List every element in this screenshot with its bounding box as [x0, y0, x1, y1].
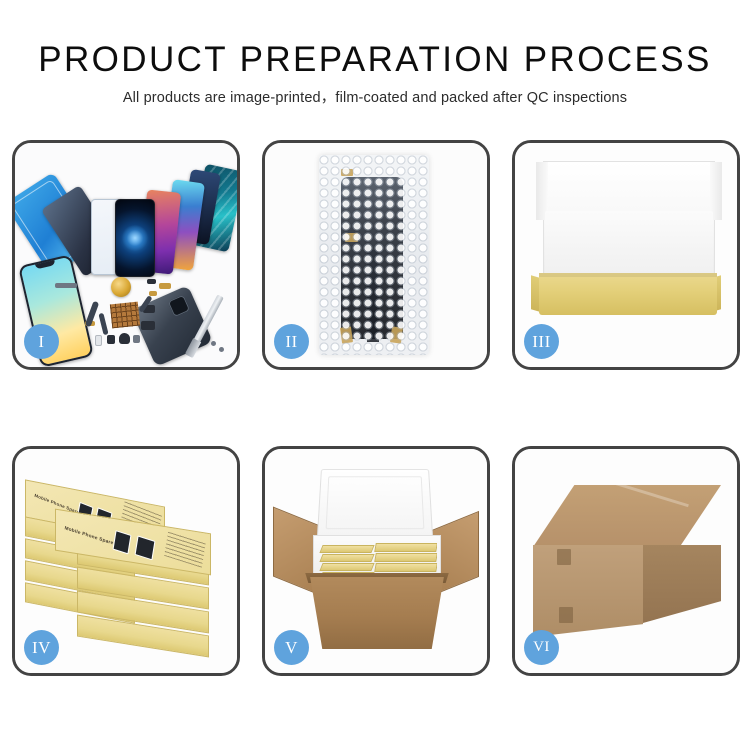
- spare-part-chip: [149, 291, 157, 296]
- process-step-panel-6: VI: [512, 446, 740, 676]
- step-1-image: I: [15, 143, 237, 367]
- packed-box: [374, 543, 437, 552]
- packed-box: [319, 554, 374, 562]
- step-badge-4: IV: [24, 630, 59, 665]
- step-5-image: V: [265, 449, 487, 673]
- foam-lid-icon: [317, 469, 433, 538]
- process-step-panel-3: III: [512, 140, 740, 370]
- flex-cable-icon: [98, 313, 108, 336]
- spare-part-chip: [159, 283, 171, 289]
- tape-icon: [341, 169, 353, 176]
- process-step-panel-2: II: [262, 140, 490, 370]
- process-step-panel-5: V: [262, 446, 490, 676]
- packed-box: [319, 563, 374, 571]
- step-badge-1: I: [24, 324, 59, 359]
- tape-icon: [345, 233, 358, 242]
- step-badge-5: V: [274, 630, 309, 665]
- screen-assembly-icon: [341, 177, 403, 339]
- step-3-image: III: [515, 143, 737, 367]
- step-2-image: II: [265, 143, 487, 367]
- product-preparation-process-page: PRODUCT PREPARATION PROCESS All products…: [0, 0, 750, 750]
- burst-phone-icon: [115, 199, 155, 277]
- carton-tape-icon: [559, 607, 573, 623]
- spare-part-chip: [107, 335, 115, 344]
- logic-board-icon: [110, 302, 140, 329]
- packed-box: [319, 545, 374, 553]
- vibration-motor-icon: [111, 277, 131, 297]
- spare-part-chip: [133, 335, 140, 343]
- process-step-panel-4: Mobile Phone Spare Parts Mobile Phone Sp…: [12, 446, 240, 676]
- spare-part-chip: [147, 279, 156, 284]
- page-subtitle: All products are image-printed，film-coat…: [0, 89, 750, 107]
- box-spec-lines: [164, 531, 206, 568]
- kraft-box-icon: [539, 273, 717, 315]
- carton-tape-icon: [557, 549, 571, 565]
- spare-part-chip: [119, 333, 130, 344]
- spare-part-chip: [141, 321, 155, 330]
- box-window-icon: [135, 535, 156, 560]
- carton-side-icon: [643, 545, 721, 623]
- step-6-image: VI: [515, 449, 737, 673]
- box-window-icon: [113, 530, 132, 554]
- page-title: PRODUCT PREPARATION PROCESS: [0, 40, 750, 80]
- spare-part-chip: [95, 335, 102, 346]
- tape-icon: [340, 326, 353, 343]
- page-header: PRODUCT PREPARATION PROCESS All products…: [0, 0, 750, 107]
- bubble-wrap-bag-icon: [319, 155, 429, 355]
- spare-part-chip: [55, 283, 77, 288]
- carton-top-icon: [533, 485, 721, 547]
- carton-body-icon: [301, 577, 453, 649]
- foam-sheet-icon: [545, 211, 713, 275]
- packed-box: [374, 563, 437, 572]
- process-steps-grid: I II: [12, 140, 740, 676]
- screw-icon: [211, 341, 216, 346]
- step-badge-3: III: [524, 324, 559, 359]
- screw-icon: [219, 347, 224, 352]
- tape-icon: [390, 326, 403, 343]
- flex-cable-icon: [367, 250, 379, 342]
- process-step-panel-1: I: [12, 140, 240, 370]
- packed-box: [374, 553, 437, 562]
- step-badge-2: II: [274, 324, 309, 359]
- carton-front-icon: [533, 545, 643, 637]
- step-badge-6: VI: [524, 630, 559, 665]
- step-4-image: Mobile Phone Spare Parts Mobile Phone Sp…: [15, 449, 237, 673]
